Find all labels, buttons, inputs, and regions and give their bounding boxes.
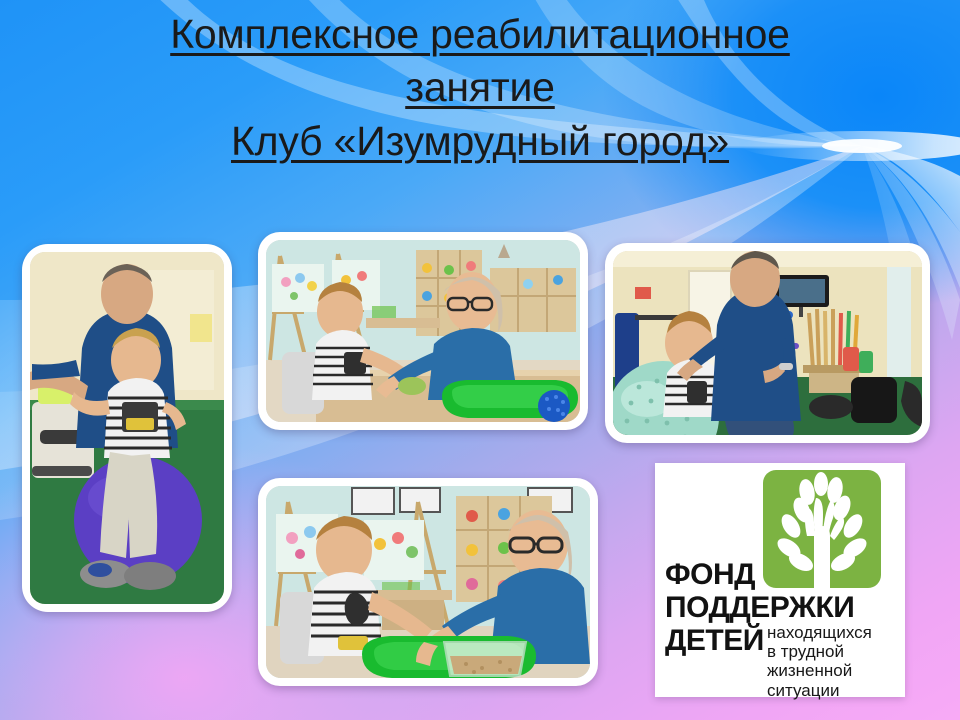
logo-subtitle-line-4: ситуации [767, 681, 899, 700]
tree-hand-icon [763, 470, 881, 588]
title-line-3: Клуб «Изумрудный город» [0, 115, 960, 168]
photo-table-green-tray[interactable] [258, 232, 588, 430]
logo-word-fond: ФОНД [665, 558, 755, 592]
photo-image [266, 486, 590, 678]
logo-word-podderzhki: ПОДДЕРЖКИ [665, 591, 854, 625]
slide-title: Комплексное реабилитационное занятие Клу… [0, 8, 960, 168]
photo-image: BUND [30, 252, 224, 604]
logo-word-detey: ДЕТЕЙ [665, 624, 764, 658]
title-line-2: занятие [0, 61, 960, 114]
logo-subtitle-line-1: находящихся [767, 623, 899, 642]
foundation-logo-panel: ФОНД ПОДДЕРЖКИ ДЕТЕЙ находящихся в трудн… [655, 463, 905, 697]
photo-sand-therapy[interactable] [258, 478, 598, 686]
logo-subtitle-line-3: жизненной [767, 661, 899, 680]
presentation-slide: Комплексное реабилитационное занятие Клу… [0, 0, 960, 720]
photo-gym-green-ball[interactable] [605, 243, 930, 443]
photo-boy-on-purple-ball[interactable]: BUND [22, 244, 232, 612]
photo-image [266, 240, 580, 422]
logo-subtitle-line-2: в трудной [767, 642, 899, 661]
title-line-1: Комплексное реабилитационное [0, 8, 960, 61]
photo-image [613, 251, 922, 435]
logo-subtitle: находящихся в трудной жизненной ситуации [767, 623, 899, 700]
